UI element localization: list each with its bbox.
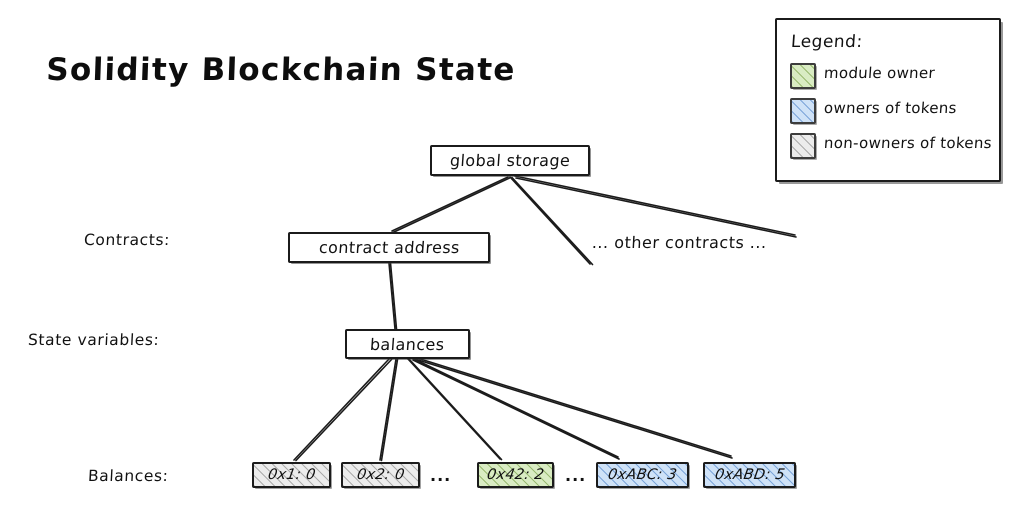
row-label-contracts: Contracts: <box>84 231 171 249</box>
edge-contract-to-balances-2 <box>391 263 397 329</box>
row-label-state-variables: State variables: <box>28 331 160 349</box>
edge-global-to-contract-2 <box>393 178 510 233</box>
node-balances[interactable]: balances <box>345 329 470 359</box>
edge-balances-to-0xabd-2 <box>415 359 732 458</box>
legend-item-module-owner: module owner <box>790 63 935 89</box>
edge-balances-to-0xabd <box>414 357 731 456</box>
edge-balances-to-0x1 <box>294 359 389 460</box>
balance-box-3[interactable]: 0xABC: 3 <box>596 462 689 488</box>
balance-box-4[interactable]: 0xABD: 5 <box>703 462 796 488</box>
legend-item-non-owners-of-tokens: non-owners of tokens <box>790 133 992 159</box>
edge-balances-to-0xabc <box>412 358 618 457</box>
edge-contract-to-balances <box>389 263 395 329</box>
balances-ellipsis-1: ... <box>565 466 586 485</box>
balance-box-3-label: 0xABC: 3 <box>607 467 678 483</box>
legend-panel: Legend: module owner owners of tokens no… <box>775 18 1001 182</box>
edge-global-to-other-a2 <box>512 178 593 265</box>
balance-box-2-label: 0x42: 2 <box>486 467 546 483</box>
blue-hatched-swatch-icon <box>790 98 816 124</box>
edge-balances-to-0x42 <box>408 359 500 459</box>
balance-box-2[interactable]: 0x42: 2 <box>477 462 554 488</box>
legend-item-owners-of-tokens: owners of tokens <box>790 98 957 124</box>
balance-box-1[interactable]: 0x2: 0 <box>341 462 420 488</box>
node-global-storage-label: global storage <box>449 151 571 170</box>
legend-item-module-owner-label: module owner <box>823 65 935 82</box>
page-title: Solidity Blockchain State <box>0 52 791 88</box>
legend-item-owners-of-tokens-label: owners of tokens <box>823 100 957 117</box>
edge-global-to-other-a <box>510 177 590 264</box>
balances-ellipsis-0: ... <box>430 466 451 485</box>
balance-box-0[interactable]: 0x1: 0 <box>252 462 331 488</box>
node-contract-address[interactable]: contract address <box>288 232 490 263</box>
balance-box-4-label: 0xABD: 5 <box>713 467 786 483</box>
green-hatched-swatch-icon <box>790 63 816 89</box>
edge-global-to-other-b <box>515 176 795 235</box>
node-contract-address-label: contract address <box>318 238 460 257</box>
legend-title: Legend: <box>790 32 863 52</box>
node-balances-label: balances <box>370 335 446 354</box>
legend-item-non-owners-of-tokens-label: non-owners of tokens <box>823 135 992 152</box>
edge-global-to-contract <box>392 177 508 231</box>
edge-balances-to-0x1-2 <box>296 360 392 461</box>
edge-balances-to-0xabc-2 <box>413 360 619 459</box>
node-global-storage[interactable]: global storage <box>430 145 590 176</box>
edge-balances-to-0x42-2 <box>410 360 502 460</box>
balance-box-1-label: 0x2: 0 <box>355 467 405 483</box>
diagram-canvas: Solidity Blockchain State Contracts: Sta… <box>0 0 1018 508</box>
edge-balances-to-0x2 <box>380 359 396 460</box>
edge-global-to-other-b2 <box>516 178 796 237</box>
node-other-contracts: ... other contracts ... <box>592 233 768 252</box>
edge-balances-to-0x2-2 <box>382 360 398 461</box>
gray-hatched-swatch-icon <box>790 133 816 159</box>
balance-box-0-label: 0x1: 0 <box>266 467 316 483</box>
row-label-balances: Balances: <box>88 467 169 485</box>
